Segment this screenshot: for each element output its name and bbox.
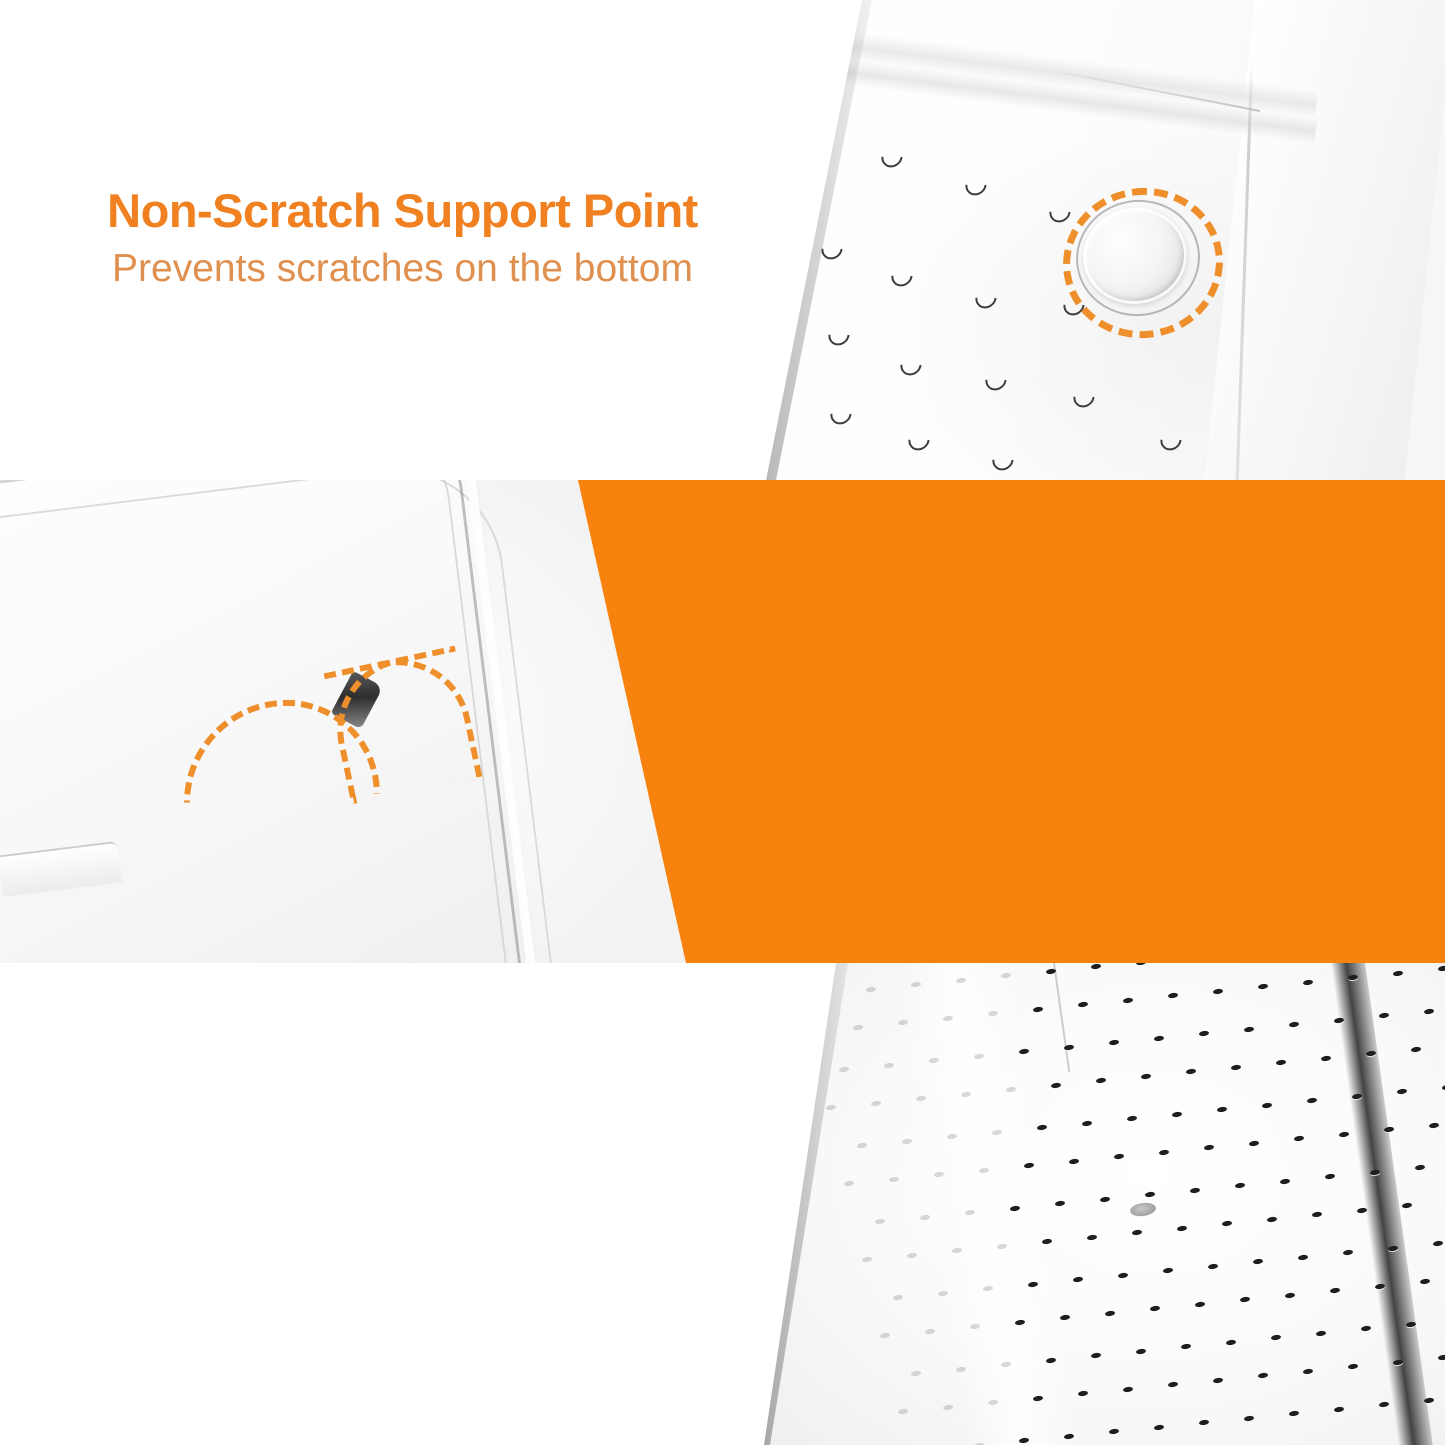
perforation-hole [1150,1305,1161,1311]
perforation-hole [1384,1126,1395,1132]
panel-round-corner-design: Round Corner Design Will not scratch the… [0,480,1445,963]
perforation-hole [1091,963,1102,969]
perforation-hole [1258,1372,1269,1378]
panel-1-heading: Non-Scratch Support Point [10,186,795,235]
perforation-hole [1181,1343,1192,1349]
product-infographic: Non-Scratch Support Point Prevents scrat… [0,0,1445,1445]
panel-non-scratch-support-point: Non-Scratch Support Point Prevents scrat… [0,0,1445,480]
perforation-hole [1037,1124,1048,1130]
perforation-hole [1226,1339,1237,1345]
support-nub [904,425,934,454]
perforation-hole [1244,1026,1255,1032]
perforation-hole [1213,988,1224,994]
perforation-hole [1285,1292,1296,1298]
perforation-hole [1114,1153,1125,1159]
dashed-circle-highlight-icon [1053,178,1232,349]
perforation-hole [1424,1397,1435,1403]
perforation-hole [1096,1077,1107,1083]
perforation-hole [1159,1149,1170,1155]
perforation-hole [943,1404,954,1410]
perforation-hole [1424,1008,1435,1014]
perforation-hole [1294,1135,1305,1141]
perforation-hole [1222,1220,1233,1226]
perforation-hole [1145,1191,1156,1197]
perforation-hole [1280,1178,1291,1184]
perforation-hole [1429,1122,1440,1128]
perforation-hole [907,1252,918,1258]
perforation-hole [1055,1200,1066,1206]
perforation-hole [1087,1234,1098,1240]
perforation-hole [1312,1211,1323,1217]
perforation-hole [1064,1044,1075,1050]
perforation-hole [1325,1173,1336,1179]
perforation-hole [1298,1254,1309,1260]
perforation-hole [1109,1428,1120,1434]
perforation-hole [826,1104,837,1110]
perforation-hole [1109,1039,1120,1045]
perforation-hole [1132,1229,1143,1235]
perforation-hole [1361,1325,1372,1331]
perforation-hole [821,990,832,996]
perforation-hole [1438,1354,1445,1360]
support-nub [988,445,1018,474]
perforation-hole [1168,1381,1179,1387]
perforation-hole [875,1218,886,1224]
perforation-hole [1168,992,1179,998]
perforation-hole [1118,1272,1129,1278]
perforation-hole [1136,963,1147,965]
perforation-hole [1105,1310,1116,1316]
perforation-hole [1240,1296,1251,1302]
perforation-hole [866,986,877,992]
perforation-hole [1379,1012,1390,1018]
support-nub [1156,425,1186,454]
perforation-hole [1433,1240,1444,1246]
perforation-hole [1060,1314,1071,1320]
perforation-hole [1127,1115,1138,1121]
perforation-hole [1258,983,1269,989]
perforation-hole [1213,1377,1224,1383]
drain-hole [1129,1201,1157,1217]
perforation-hole [1141,1073,1152,1079]
perforation-hole [1271,1334,1282,1340]
perforation-hole [1244,1415,1255,1421]
perforation-hole [1195,1301,1206,1307]
support-nub [877,142,907,171]
perforation-hole [1186,1068,1197,1074]
tray-seam [1052,963,1071,1073]
perforation-hole [1235,1182,1246,1188]
perforation-hole [1217,1106,1228,1112]
perforation-hole [1253,1258,1264,1264]
perforation-hole [1415,1164,1426,1170]
perforation-hole [1100,1196,1111,1202]
perforation-hole [1199,1030,1210,1036]
tray-dark-edge [1329,963,1438,1445]
perforation-hole [1289,1021,1300,1027]
pet-plastic-photo [0,963,1445,1445]
perforation-hole [1397,1088,1408,1094]
perforation-hole [884,1062,895,1068]
panel-pet-plastic: PET Plastic ultra-sturdy, so will not cr… [0,963,1445,1445]
perforation-hole [911,1370,922,1376]
perforation-hole [1262,1102,1273,1108]
perforation-hole [1136,1348,1147,1354]
support-nub [1069,382,1099,411]
support-nub [1045,197,1075,226]
perforation-hole [857,1142,868,1148]
perforation-hole [925,1328,936,1334]
support-nub [971,283,1001,312]
perforation-hole [920,1214,931,1220]
perforation-hole [1289,1410,1300,1416]
perforation-hole [893,1294,904,1300]
perforation-hole [1276,1059,1287,1065]
perforation-hole [1172,1111,1183,1117]
perforation-hole [1154,1424,1165,1430]
perforation-hole [1249,1140,1260,1146]
perforation-hole [1411,1046,1422,1052]
support-nub [887,261,917,290]
perforation-hole [1033,1006,1044,1012]
photo-diagonal-edge [756,963,866,1445]
perforation-hole [853,1024,864,1030]
perforation-hole [1267,1216,1278,1222]
perforation-hole [902,1138,913,1144]
perforation-hole [1402,1202,1413,1208]
perforation-hole [1330,1287,1341,1293]
perforation-hole [1163,1267,1174,1273]
perforation-hole [1199,1419,1210,1425]
perforation-hole [1204,1144,1215,1150]
perforation-hole [1334,1406,1345,1412]
perforation-hole [1069,1158,1080,1164]
support-nub [824,320,854,349]
perforation-hole [871,1100,882,1106]
support-nub [981,365,1011,394]
support-nub [961,170,991,199]
perforation-hole [1073,1276,1084,1282]
perforation-hole [808,1028,819,1034]
perforation-hole [1078,1390,1089,1396]
panel-1-subtitle: Prevents scratches on the bottom [10,247,795,292]
perforation-hole [1307,1097,1318,1103]
perforation-hole [1348,1363,1359,1369]
perforation-hole [1231,1064,1242,1070]
support-nub [896,350,926,379]
perforation-hole [1420,1278,1431,1284]
perforation-hole [889,1176,900,1182]
perforation-hole [1343,1249,1354,1255]
perforation-hole [1082,1120,1093,1126]
perforation-hole [1208,1263,1219,1269]
perforation-hole [1154,1035,1165,1041]
perforation-hole [1379,1401,1390,1407]
support-nub [826,399,856,428]
perforation-hole [1051,1082,1062,1088]
perforation-hole [1177,1225,1188,1231]
perforation-hole [1339,1131,1350,1137]
perforation-hole [862,1256,873,1262]
panel-1-text-block: Non-Scratch Support Point Prevents scrat… [10,186,795,292]
perforation-hole [1438,965,1445,971]
perforation-hole [1078,1001,1089,1007]
perforation-hole [844,1180,855,1186]
perforation-hole [839,1066,850,1072]
perforation-hole [1123,997,1134,1003]
perforation-hole [880,1332,891,1338]
perforation-hole [1303,979,1314,985]
perforation-hole [1123,1386,1134,1392]
perforation-hole [1393,970,1404,976]
perforation-hole [1091,1352,1102,1358]
perforation-hole [1190,1187,1201,1193]
perforation-hole [1316,1330,1327,1336]
perforation-hole [898,1408,909,1414]
perforation-hole [1321,1055,1332,1061]
perforation-hole [1303,1368,1314,1374]
